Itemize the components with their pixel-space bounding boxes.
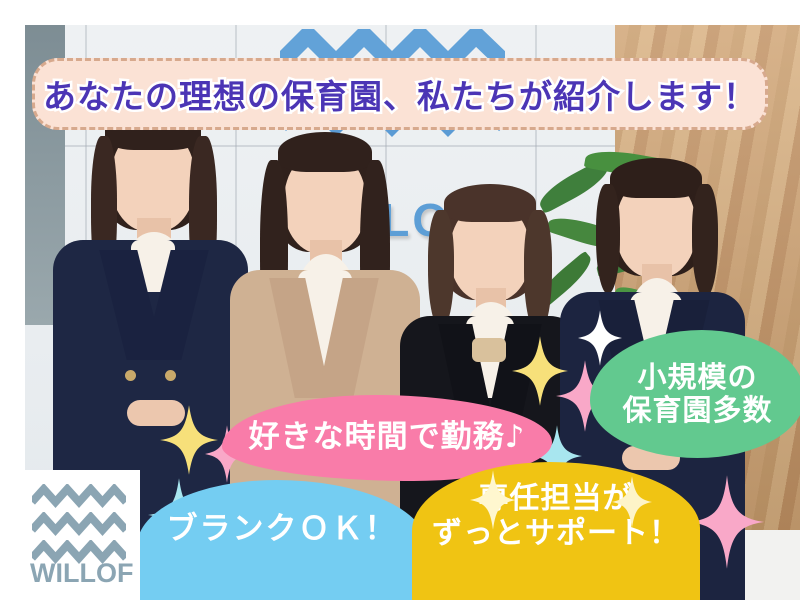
zigzag-wave-icon [32, 484, 126, 508]
willof-corner-logo: WILLOF [18, 470, 140, 600]
advertisement-banner: WILLOF [0, 0, 800, 600]
sparkle-white-over-yellow-icon [470, 470, 516, 530]
bubble-blue-text: ブランクＯＫ！ [167, 512, 398, 548]
bubble-green-line2: 保育園多数 [622, 393, 772, 427]
zigzag-wave-icon [32, 512, 126, 536]
headline-banner: あなたの理想の保育園、私たちが紹介します！ [32, 58, 768, 130]
sparkle-white-over-green-icon [612, 476, 652, 528]
bubble-dedicated-support: 専任担当が ずっとサポート！ [412, 462, 700, 600]
bubble-green-line1: 小規模の [637, 360, 757, 394]
corner-logo-text: WILLOF [30, 558, 130, 589]
bubble-pink-text: 好きな時間で勤務♪ [249, 420, 526, 456]
headline-text: あなたの理想の保育園、私たちが紹介します！ [43, 70, 757, 118]
sparkle-pink-3 [690, 475, 764, 569]
